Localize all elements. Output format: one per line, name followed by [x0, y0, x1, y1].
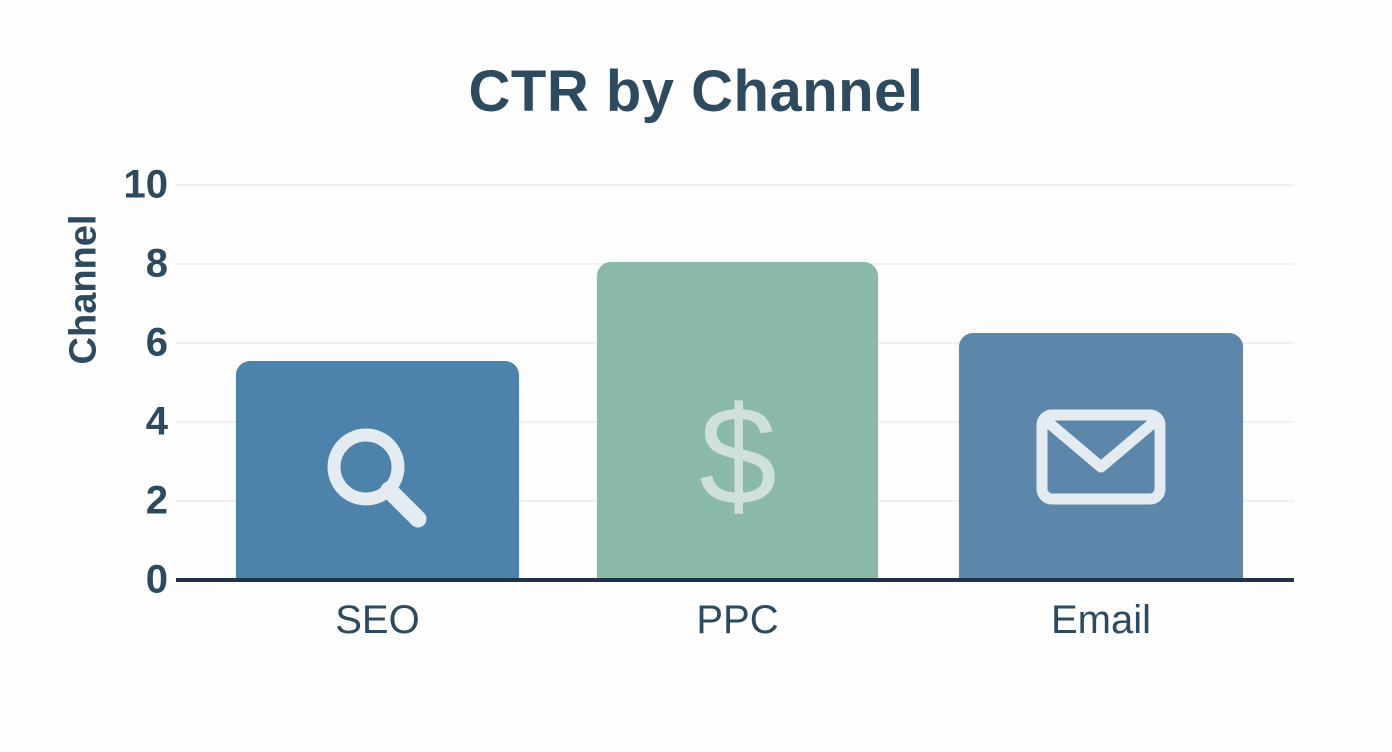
chart-figure: CTR by Channel Channel 10 8 6 4 2 0 $ [0, 0, 1392, 752]
y-tick-label-8: 8 [98, 242, 168, 287]
envelope-icon [1035, 405, 1167, 509]
bar-seo[interactable] [236, 361, 519, 578]
chart-title: CTR by Channel [0, 62, 1392, 123]
x-tick-label-email: Email [959, 598, 1243, 643]
y-tick-label-6: 6 [98, 321, 168, 366]
x-tick-label-ppc: PPC [597, 598, 878, 643]
plot-area: $ [176, 170, 1294, 582]
gridline-10 [176, 184, 1294, 186]
dollar-sign-icon: $ [683, 382, 793, 532]
svg-text:$: $ [699, 382, 777, 532]
y-tick-label-0: 0 [98, 558, 168, 603]
bar-ppc[interactable]: $ [597, 262, 878, 578]
y-tick-label-2: 2 [98, 479, 168, 524]
magnifier-icon [314, 415, 442, 543]
bar-email[interactable] [959, 333, 1243, 578]
x-tick-label-seo: SEO [236, 598, 519, 643]
x-axis-baseline [176, 578, 1294, 582]
y-tick-label-10: 10 [98, 163, 168, 208]
y-tick-label-4: 4 [98, 400, 168, 445]
